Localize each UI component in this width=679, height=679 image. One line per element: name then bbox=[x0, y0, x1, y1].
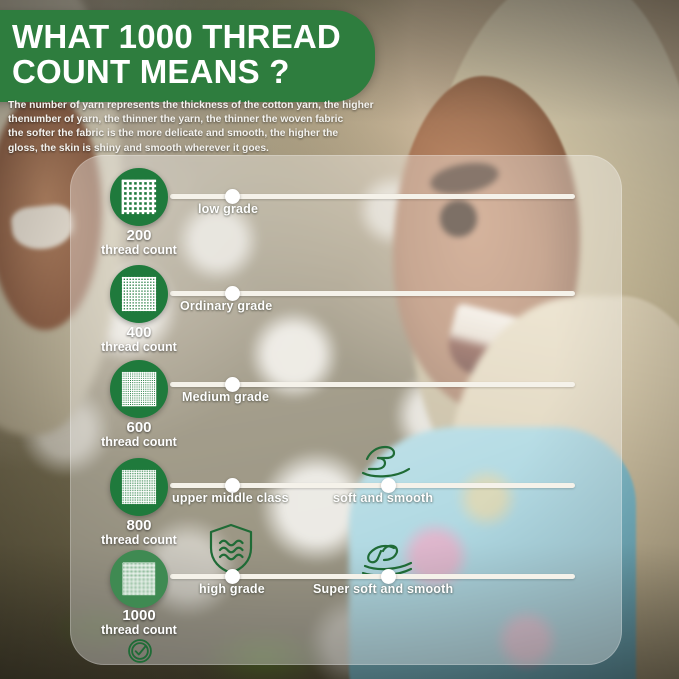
weave-grid-icon bbox=[120, 275, 158, 313]
grade-label-4: upper middle class bbox=[172, 491, 289, 505]
thread-caption-200: 200 thread count bbox=[79, 228, 199, 258]
feel-label-5: Super soft and smooth bbox=[313, 582, 453, 596]
thread-chip-400 bbox=[110, 265, 168, 323]
thread-caption-1000: 1000 thread count bbox=[79, 608, 199, 638]
thread-count-unit-1000: thread count bbox=[79, 624, 199, 638]
thread-chip-1000 bbox=[110, 550, 168, 608]
thread-count-value-800: 800 bbox=[79, 518, 199, 534]
weave-grid-icon bbox=[120, 370, 158, 408]
grade-label-2: Ordinary grade bbox=[180, 299, 272, 313]
grade-label-1: low grade bbox=[198, 202, 258, 216]
thread-count-unit-800: thread count bbox=[79, 534, 199, 548]
infographic-canvas: WHAT 1000 THREAD COUNT MEANS ? The numbe… bbox=[0, 0, 679, 679]
grade-label-5: high grade bbox=[199, 582, 265, 596]
title-banner: WHAT 1000 THREAD COUNT MEANS ? bbox=[0, 10, 375, 102]
intro-paragraph: The number of yarn represents the thickn… bbox=[8, 99, 388, 156]
thread-count-value-400: 400 bbox=[79, 325, 199, 341]
thread-count-value-200: 200 bbox=[79, 228, 199, 244]
thread-caption-800: 800 thread count bbox=[79, 518, 199, 548]
weave-grid-icon bbox=[120, 178, 158, 216]
thread-count-unit-400: thread count bbox=[79, 341, 199, 355]
grade-label-3: Medium grade bbox=[182, 390, 269, 404]
thread-caption-400: 400 thread count bbox=[79, 325, 199, 355]
thread-count-unit-200: thread count bbox=[79, 244, 199, 258]
thread-chip-200 bbox=[110, 168, 168, 226]
check-circle-icon bbox=[126, 637, 154, 665]
thread-count-unit-600: thread count bbox=[79, 436, 199, 450]
thread-count-value-1000: 1000 bbox=[79, 608, 199, 624]
thread-chip-800 bbox=[110, 458, 168, 516]
weave-grid-icon bbox=[120, 468, 158, 506]
thread-chip-600 bbox=[110, 360, 168, 418]
page-title: WHAT 1000 THREAD COUNT MEANS ? bbox=[12, 20, 341, 90]
thread-count-value-600: 600 bbox=[79, 420, 199, 436]
shield-weave-icon bbox=[207, 522, 255, 576]
thread-caption-600: 600 thread count bbox=[79, 420, 199, 450]
weave-grid-icon bbox=[120, 560, 158, 598]
feel-label-4: soft and smooth bbox=[333, 491, 433, 505]
